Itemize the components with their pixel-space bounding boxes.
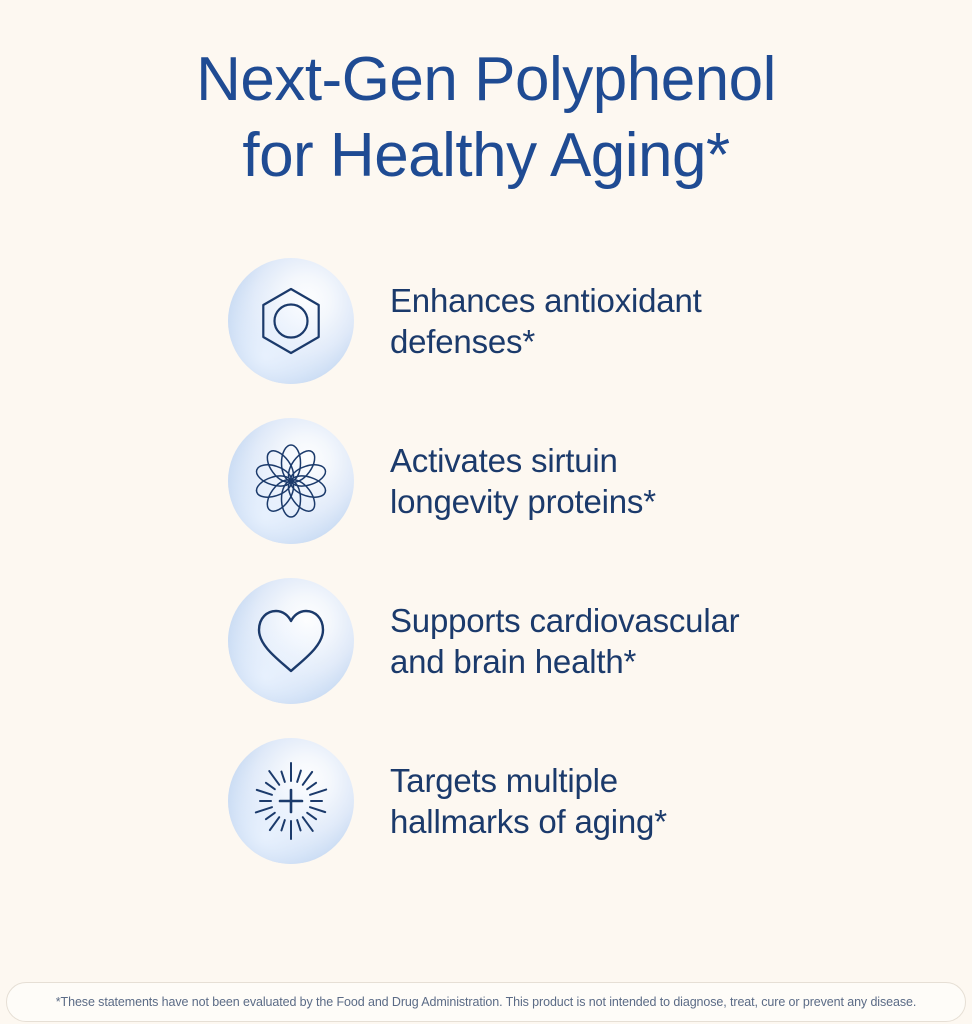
flower-rosette-glyph [252,442,330,520]
benefit-item-sirtuin: Activates sirtuin longevity proteins* [0,414,972,548]
hexagon-molecule-icon [228,258,354,384]
benefit-label: Supports cardiovascular and brain health… [390,600,739,682]
heart-icon [228,578,354,704]
heart-glyph [253,605,329,677]
benefit-item-hallmarks: Targets multiple hallmarks of aging* [0,734,972,868]
sunburst-plus-icon [228,738,354,864]
page-title: Next-Gen Polyphenol for Healthy Aging* [0,42,972,194]
hexagon-molecule-glyph [254,284,328,358]
benefit-label: Activates sirtuin longevity proteins* [390,440,656,522]
fda-disclaimer-text: *These statements have not been evaluate… [36,994,936,1010]
benefit-item-cardiovascular: Supports cardiovascular and brain health… [0,574,972,708]
flower-rosette-icon [228,418,354,544]
sunburst-plus-glyph [250,760,332,842]
benefit-label: Targets multiple hallmarks of aging* [390,760,667,842]
product-benefits-panel: Next-Gen Polyphenol for Healthy Aging* E… [0,0,972,1024]
fda-disclaimer-box: *These statements have not been evaluate… [6,982,966,1022]
benefit-item-antioxidant: Enhances antioxidant defenses* [0,254,972,388]
benefits-list: Enhances antioxidant defenses* [0,254,972,894]
benefit-label: Enhances antioxidant defenses* [390,280,702,362]
